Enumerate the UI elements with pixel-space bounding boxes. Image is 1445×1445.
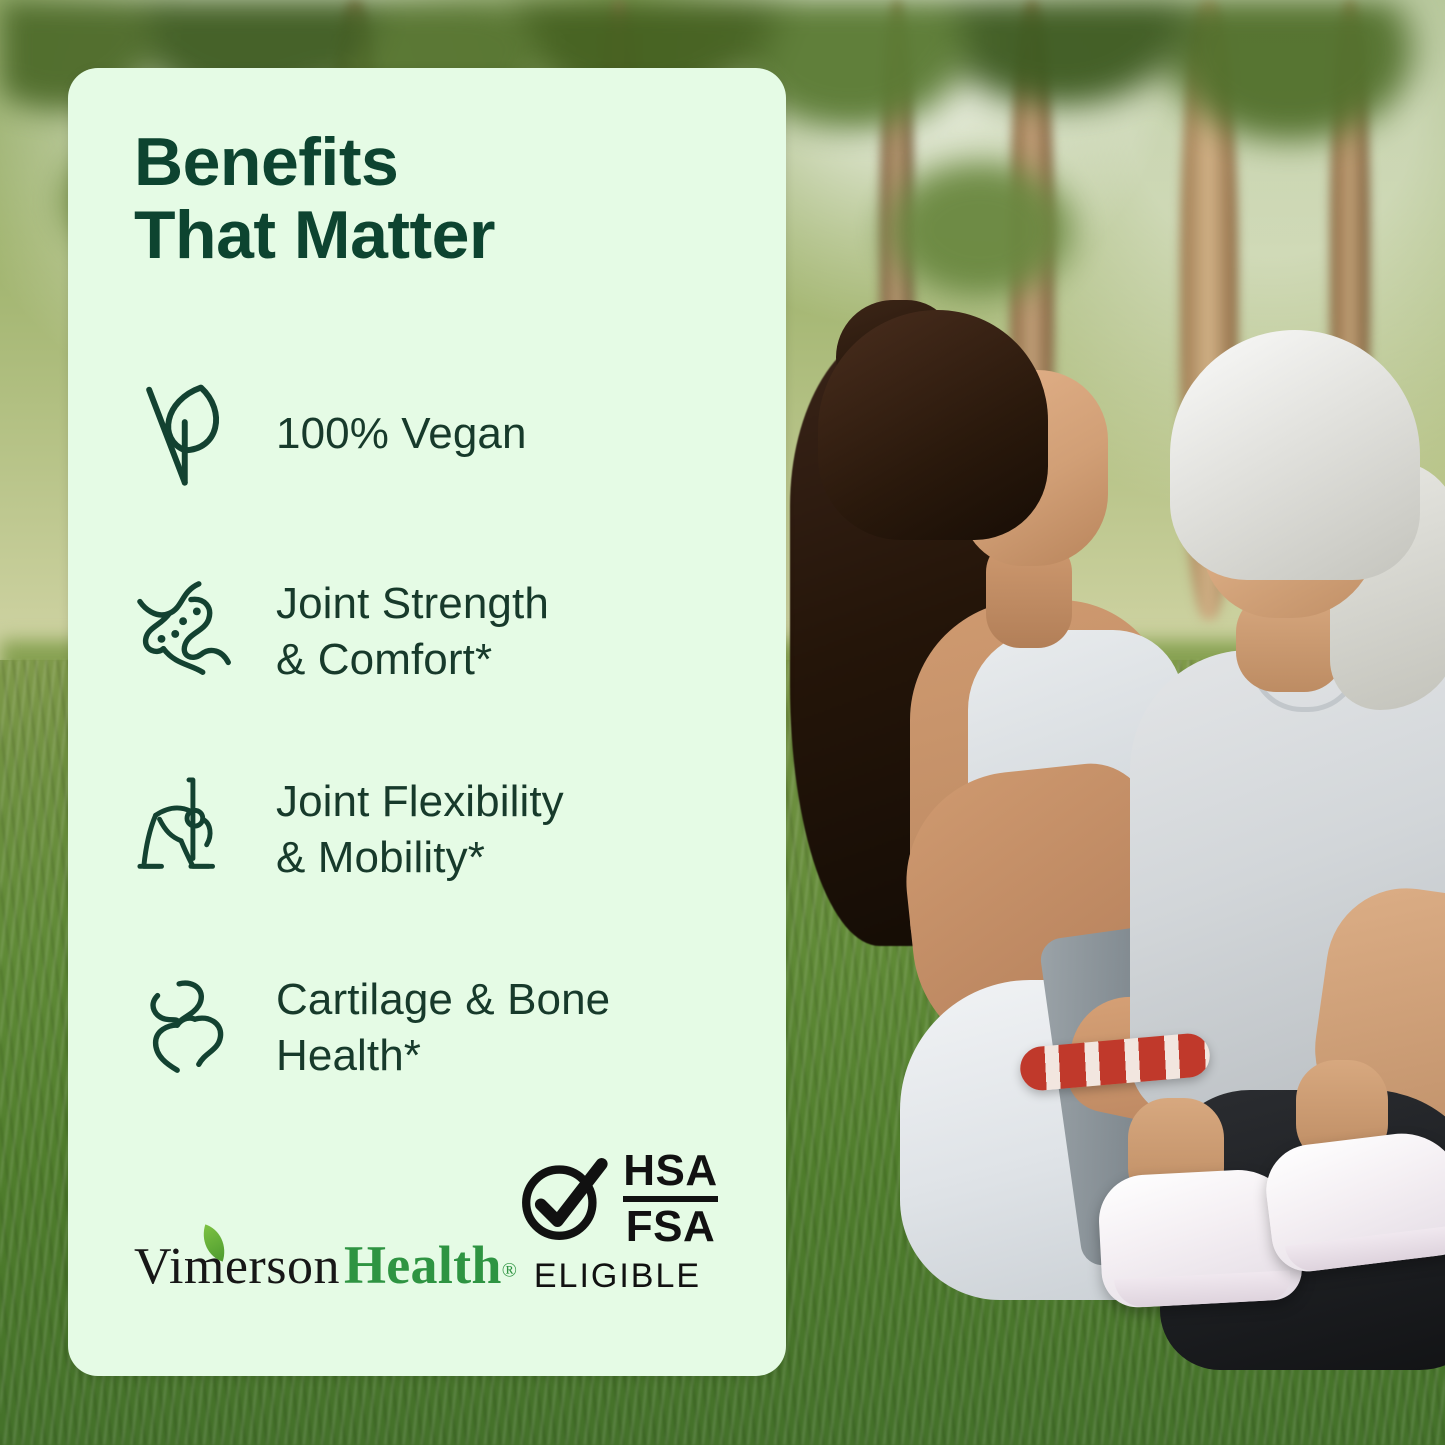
registered-trademark-icon: ®	[502, 1260, 517, 1282]
card-footer: Vimerson Health® HSA FSA ELIGIBLE	[134, 1149, 730, 1296]
hsa-fsa-eligible-badge: HSA FSA ELIGIBLE	[517, 1149, 718, 1296]
badge-line-hsa: HSA	[623, 1149, 717, 1193]
hair-crown	[818, 310, 1048, 540]
logo-word-health: Health	[344, 1235, 502, 1295]
badge-letters: HSA FSA	[623, 1149, 717, 1249]
leaf-vegan-icon	[134, 374, 242, 494]
bone-cartilage-icon	[134, 968, 242, 1088]
benefit-label: Cartilage & Bone Health*	[276, 972, 610, 1083]
logo-word-vimerson-v: V	[134, 1238, 169, 1295]
logo-word-vimerson-rest: imerson	[169, 1238, 340, 1295]
benefit-label: Joint Flexibility & Mobility*	[276, 774, 564, 885]
benefit-label: Joint Strength & Comfort*	[276, 576, 549, 687]
badge-top-row: HSA FSA	[517, 1149, 717, 1249]
hair	[1170, 330, 1420, 580]
benefit-item-vegan: 100% Vegan	[134, 335, 730, 533]
circle-check-icon	[517, 1153, 609, 1245]
benefit-item-cartilage-bone: Cartilage & Bone Health*	[134, 929, 730, 1127]
page-title: Benefits That Matter	[134, 126, 730, 273]
badge-divider	[623, 1196, 717, 1202]
benefit-item-joint-flexibility: Joint Flexibility & Mobility*	[134, 731, 730, 929]
benefit-label: 100% Vegan	[276, 406, 527, 461]
vimerson-health-logo: Vimerson Health®	[134, 1234, 517, 1296]
badge-line-fsa: FSA	[626, 1205, 716, 1249]
benefits-card: Benefits That Matter 100% Vegan Jo	[68, 68, 786, 1376]
yoga-stretch-icon	[134, 770, 242, 890]
badge-line-eligible: ELIGIBLE	[534, 1257, 701, 1296]
benefit-item-joint-strength: Joint Strength & Comfort*	[134, 533, 730, 731]
joint-cartilage-icon	[134, 572, 242, 692]
